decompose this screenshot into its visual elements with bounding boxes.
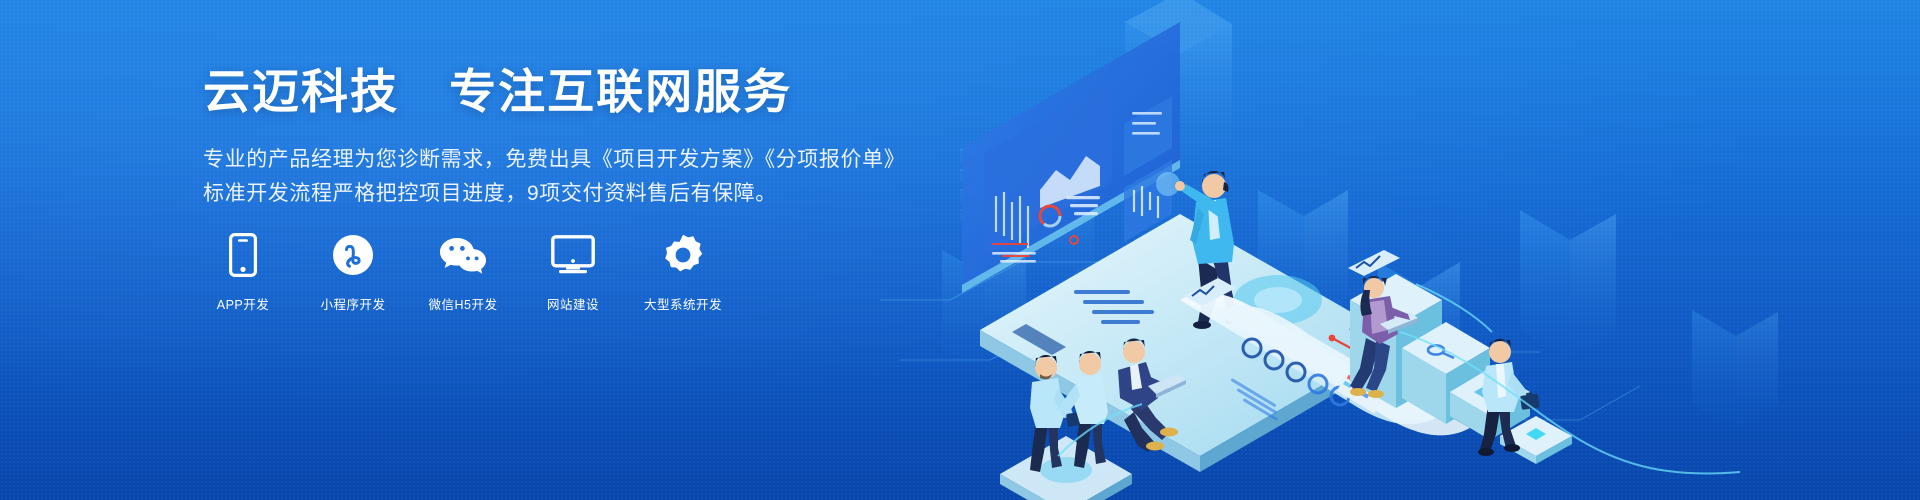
monitor-icon: [551, 232, 595, 278]
hero-copy: 云迈科技 专注互联网服务 专业的产品经理为您诊断需求，免费出具《项目开发方案》《…: [203, 66, 923, 211]
hero-banner: 云迈科技 专注互联网服务 专业的产品经理为您诊断需求，免费出具《项目开发方案》《…: [0, 0, 1920, 500]
headline-part-1: 云迈科技: [203, 65, 399, 118]
subtitle-line-2: 标准开发流程严格把控项目进度，9项交付资料售后有保障。: [203, 177, 923, 211]
service-label-website: 网站建设: [547, 294, 599, 313]
service-label-app: APP开发: [217, 294, 270, 313]
isometric-illustration: [880, 0, 1920, 500]
service-icon-row: APP开发 小程序开发 微信: [205, 232, 721, 313]
headline-part-2: 专注互联网服务: [449, 65, 792, 118]
service-item-website[interactable]: 网站建设: [535, 232, 611, 313]
service-label-large-system: 大型系统开发: [644, 294, 722, 313]
service-item-app[interactable]: APP开发: [205, 232, 281, 313]
wechat-icon: [439, 232, 487, 278]
gear-icon: [662, 232, 704, 278]
hero-subtitle: 专业的产品经理为您诊断需求，免费出具《项目开发方案》《分项报价单》 标准开发流程…: [203, 143, 923, 211]
service-label-mini-program: 小程序开发: [320, 294, 385, 313]
service-label-wechat-h5: 微信H5开发: [429, 294, 498, 313]
mini-program-icon: [332, 232, 374, 278]
service-item-mini-program[interactable]: 小程序开发: [315, 232, 391, 313]
service-item-wechat-h5[interactable]: 微信H5开发: [425, 232, 501, 313]
mobile-phone-icon: [229, 232, 257, 278]
service-item-large-system[interactable]: 大型系统开发: [645, 232, 721, 313]
subtitle-line-1: 专业的产品经理为您诊断需求，免费出具《项目开发方案》《分项报价单》: [203, 143, 923, 177]
page-title: 云迈科技 专注互联网服务: [203, 66, 923, 119]
